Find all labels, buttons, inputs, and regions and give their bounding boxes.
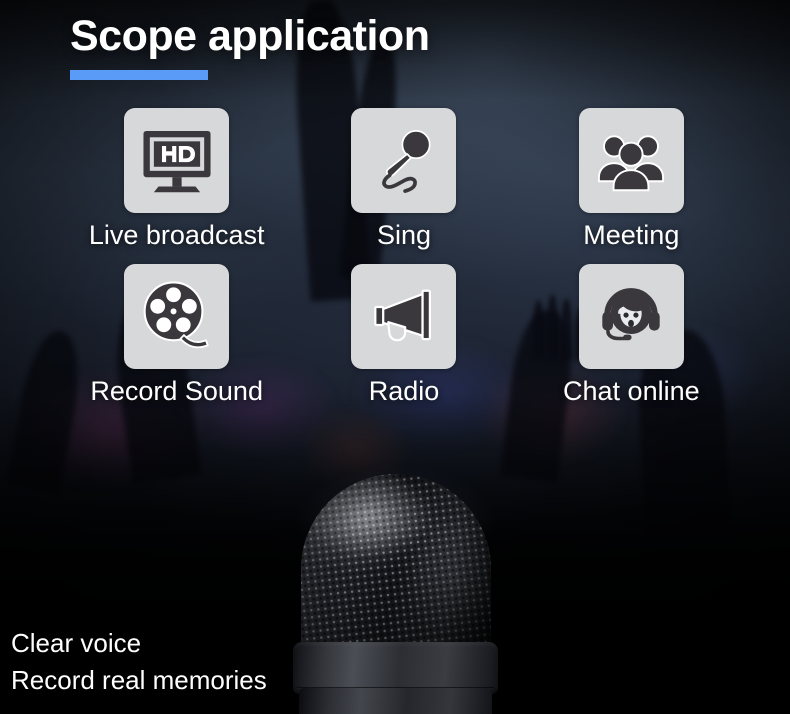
grid-row: Record Sound	[45, 264, 745, 407]
megaphone-icon	[368, 280, 440, 352]
icon-tile[interactable]	[579, 108, 684, 213]
grid-item-label: Live broadcast	[89, 221, 265, 251]
promo-banner: Scope application	[0, 0, 790, 714]
grid-item-label: Record Sound	[90, 377, 263, 407]
microphone-grille	[301, 474, 491, 656]
grille-shading	[301, 474, 491, 656]
header: Scope application	[70, 14, 670, 80]
grid-item-sing[interactable]: Sing	[290, 108, 517, 251]
film-reel-icon	[140, 279, 214, 353]
people-group-icon	[595, 125, 667, 197]
page-title: Scope application	[70, 14, 670, 59]
headset-agent-icon	[595, 280, 667, 352]
microphone-body	[299, 688, 492, 714]
grid-item-label: Meeting	[583, 221, 679, 251]
grid-item-meeting[interactable]: Meeting	[518, 108, 745, 251]
grid-item-label: Radio	[369, 377, 440, 407]
grid-item-record-sound[interactable]: Record Sound	[63, 264, 290, 407]
icon-tile[interactable]	[351, 264, 456, 369]
microphone-collar-ring	[293, 642, 498, 694]
title-accent-bar	[70, 70, 208, 80]
grid-item-live-broadcast[interactable]: Live broadcast	[63, 108, 290, 251]
caption-line-1: Clear voice	[11, 625, 267, 663]
icon-tile[interactable]	[351, 108, 456, 213]
grid-item-chat-online[interactable]: Chat online	[518, 264, 745, 407]
caption-line-2: Record real memories	[11, 662, 267, 700]
hd-monitor-icon	[140, 124, 214, 198]
grid-item-label: Sing	[377, 221, 431, 251]
grid-item-label: Chat online	[563, 377, 700, 407]
grid-item-radio[interactable]: Radio	[290, 264, 517, 407]
bottom-caption: Clear voice Record real memories	[11, 625, 267, 700]
scope-application-grid: Live broadcast Sing	[0, 108, 790, 406]
grid-row: Live broadcast Sing	[45, 108, 745, 251]
condenser-microphone-product	[293, 474, 498, 714]
handheld-microphone-icon	[369, 126, 439, 196]
icon-tile[interactable]	[124, 264, 229, 369]
icon-tile[interactable]	[124, 108, 229, 213]
icon-tile[interactable]	[579, 264, 684, 369]
